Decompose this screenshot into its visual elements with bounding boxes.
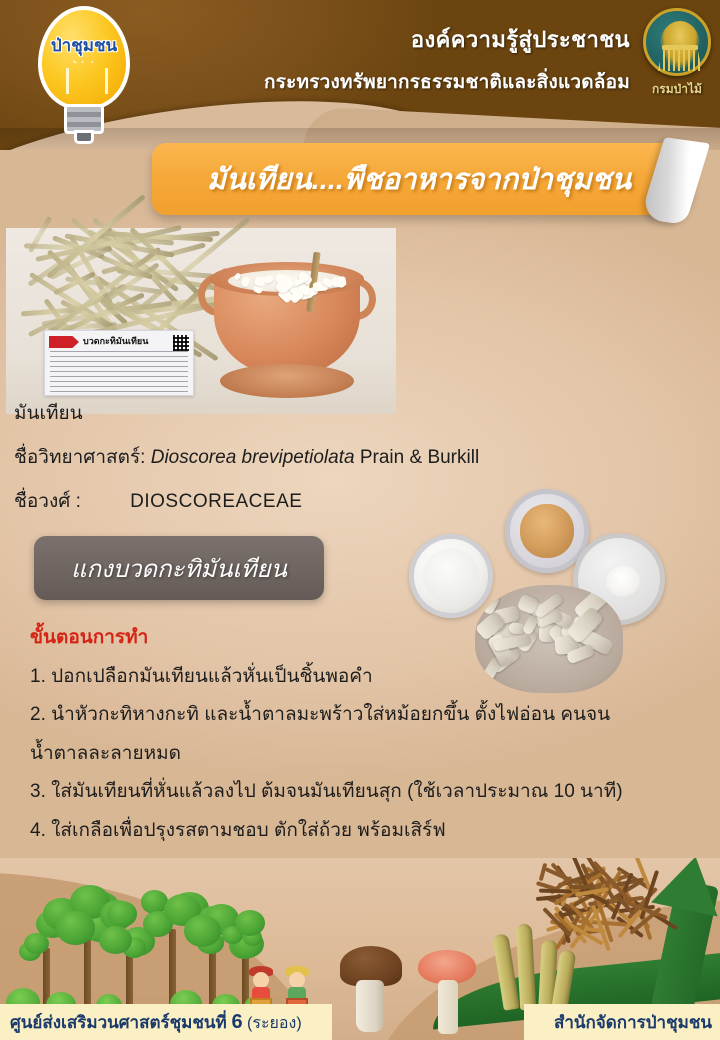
mushroom-stem bbox=[356, 980, 384, 1032]
step-item: 3. ใส่มันเทียนที่หั่นแล้วลงไป ต้มจนมันเท… bbox=[30, 779, 700, 804]
footer-left-province: (ระยอง) bbox=[243, 1015, 302, 1032]
emblem-circle-icon bbox=[643, 8, 711, 76]
emblem-label: กรมป่าไม้ bbox=[636, 80, 718, 99]
pot-saucer bbox=[220, 364, 354, 398]
label-card-red-flag-icon bbox=[49, 336, 79, 348]
footer-right-label: สำนักจัดการป่าชุมชน bbox=[524, 1004, 720, 1040]
lightbulb-filament-icon bbox=[66, 68, 108, 94]
exhibit-label-card: บวดกะทิมันเทียน bbox=[44, 330, 194, 396]
step-item: 2. นำหัวกะทิหางกะทิ และน้ำตาลมะพร้าวใส่ห… bbox=[30, 702, 700, 727]
lightbulb-tip-icon bbox=[74, 130, 94, 144]
plant-name-block: มันเทียน ชื่อวิทยาศาสตร์: Dioscorea brev… bbox=[14, 398, 674, 516]
scientific-name-author: Prain & Burkill bbox=[360, 447, 479, 468]
recipe-title: แกงบวดกะทิมันเทียน bbox=[71, 549, 287, 588]
scientific-name-label: ชื่อวิทยาศาสตร์: bbox=[14, 447, 145, 468]
label-card-text-lines bbox=[50, 351, 188, 393]
step-item: 1. ปอกเปลือกมันเทียนแล้วหั่นเป็นชิ้นพอคำ bbox=[30, 664, 700, 689]
mushroom-stem bbox=[438, 980, 458, 1034]
tree-crown bbox=[24, 933, 49, 954]
recipe-title-box: แกงบวดกะทิมันเทียน bbox=[34, 536, 324, 600]
dried-root-twig bbox=[538, 888, 571, 893]
villager-head-icon bbox=[253, 972, 269, 988]
clay-pot-photo bbox=[192, 252, 380, 410]
scientific-name-binomial: Dioscorea brevipetiolata bbox=[151, 447, 355, 468]
dried-root-twig bbox=[568, 884, 592, 889]
step-item-continuation: น้ำตาลละลายหมด bbox=[30, 741, 700, 766]
step-item: 4. ใส่เกลือเพื่อปรุงรสตามชอบ ตักใส่ถ้วย … bbox=[30, 818, 700, 843]
villager-head-icon bbox=[289, 972, 305, 988]
hero-photo: บวดกะทิมันเทียน bbox=[6, 228, 396, 414]
lightbulb-badge-label: ป่าชุมชน bbox=[26, 32, 142, 59]
emblem-rays-icon bbox=[658, 49, 702, 71]
header-title-line2: กระทรวงทรัพยากรธรรมชาติและสิ่งแวดล้อม bbox=[250, 67, 630, 97]
family-value: DIOSCOREACEAE bbox=[130, 491, 302, 513]
family-label: ชื่อวงศ์ : bbox=[14, 491, 81, 512]
poster-root: ป่าชุมชน องค์ความรู้สู่ประชาชน กระทรวงทร… bbox=[0, 0, 720, 1040]
footer-left-pre: ศูนย์ส่งเสริมวนศาสตร์ชุมชนที่ bbox=[10, 1013, 231, 1032]
coconut-milk-bowl-photo bbox=[409, 534, 493, 618]
porcini-mushroom-icon bbox=[340, 946, 402, 1032]
poster-title: มันเทียน....พืชอาหารจากป่าชุมชน bbox=[152, 143, 672, 215]
header-title-group: องค์ความรู้สู่ประชาชน กระทรวงทรัพยากรธรร… bbox=[250, 22, 630, 97]
footer-left-text: ศูนย์ส่งเสริมวนศาสตร์ชุมชนที่ 6 (ระยอง) bbox=[10, 1009, 302, 1036]
preparation-steps: ขั้นตอนการทำ 1. ปอกเปลือกมันเทียนแล้วหั่… bbox=[30, 622, 700, 856]
royal-forest-department-emblem-icon: กรมป่าไม้ bbox=[640, 8, 714, 112]
mushroom-cap bbox=[418, 950, 476, 984]
tree-crown bbox=[107, 901, 137, 927]
tree-trunk bbox=[84, 933, 91, 1014]
footer-right-text: สำนักจัดการป่าชุมชน bbox=[554, 1009, 712, 1036]
dried-yam-roots-photo bbox=[20, 232, 210, 338]
tree-crown bbox=[235, 910, 265, 936]
lightbulb-icon: ป่าชุมชน bbox=[26, 6, 142, 146]
dried-roots-bundle-icon bbox=[534, 870, 664, 948]
qr-code-icon bbox=[173, 335, 189, 351]
title-banner: มันเทียน....พืชอาหารจากป่าชุมชน bbox=[152, 143, 692, 215]
header-bar: ป่าชุมชน องค์ความรู้สู่ประชาชน กระทรวงทร… bbox=[0, 0, 720, 150]
orange-mushroom-icon bbox=[418, 950, 476, 1036]
footer-center-number: 6 bbox=[231, 1011, 242, 1033]
footer-left-label: ศูนย์ส่งเสริมวนศาสตร์ชุมชนที่ 6 (ระยอง) bbox=[0, 1004, 332, 1040]
steps-heading: ขั้นตอนการทำ bbox=[30, 622, 700, 652]
header-title-line1: องค์ความรู้สู่ประชาชน bbox=[250, 22, 630, 57]
common-name: มันเทียน bbox=[14, 398, 674, 428]
tree-crown bbox=[184, 915, 221, 947]
label-card-title: บวดกะทิมันเทียน bbox=[83, 334, 148, 348]
scientific-name-row: ชื่อวิทยาศาสตร์: Dioscorea brevipetiolat… bbox=[14, 442, 674, 472]
